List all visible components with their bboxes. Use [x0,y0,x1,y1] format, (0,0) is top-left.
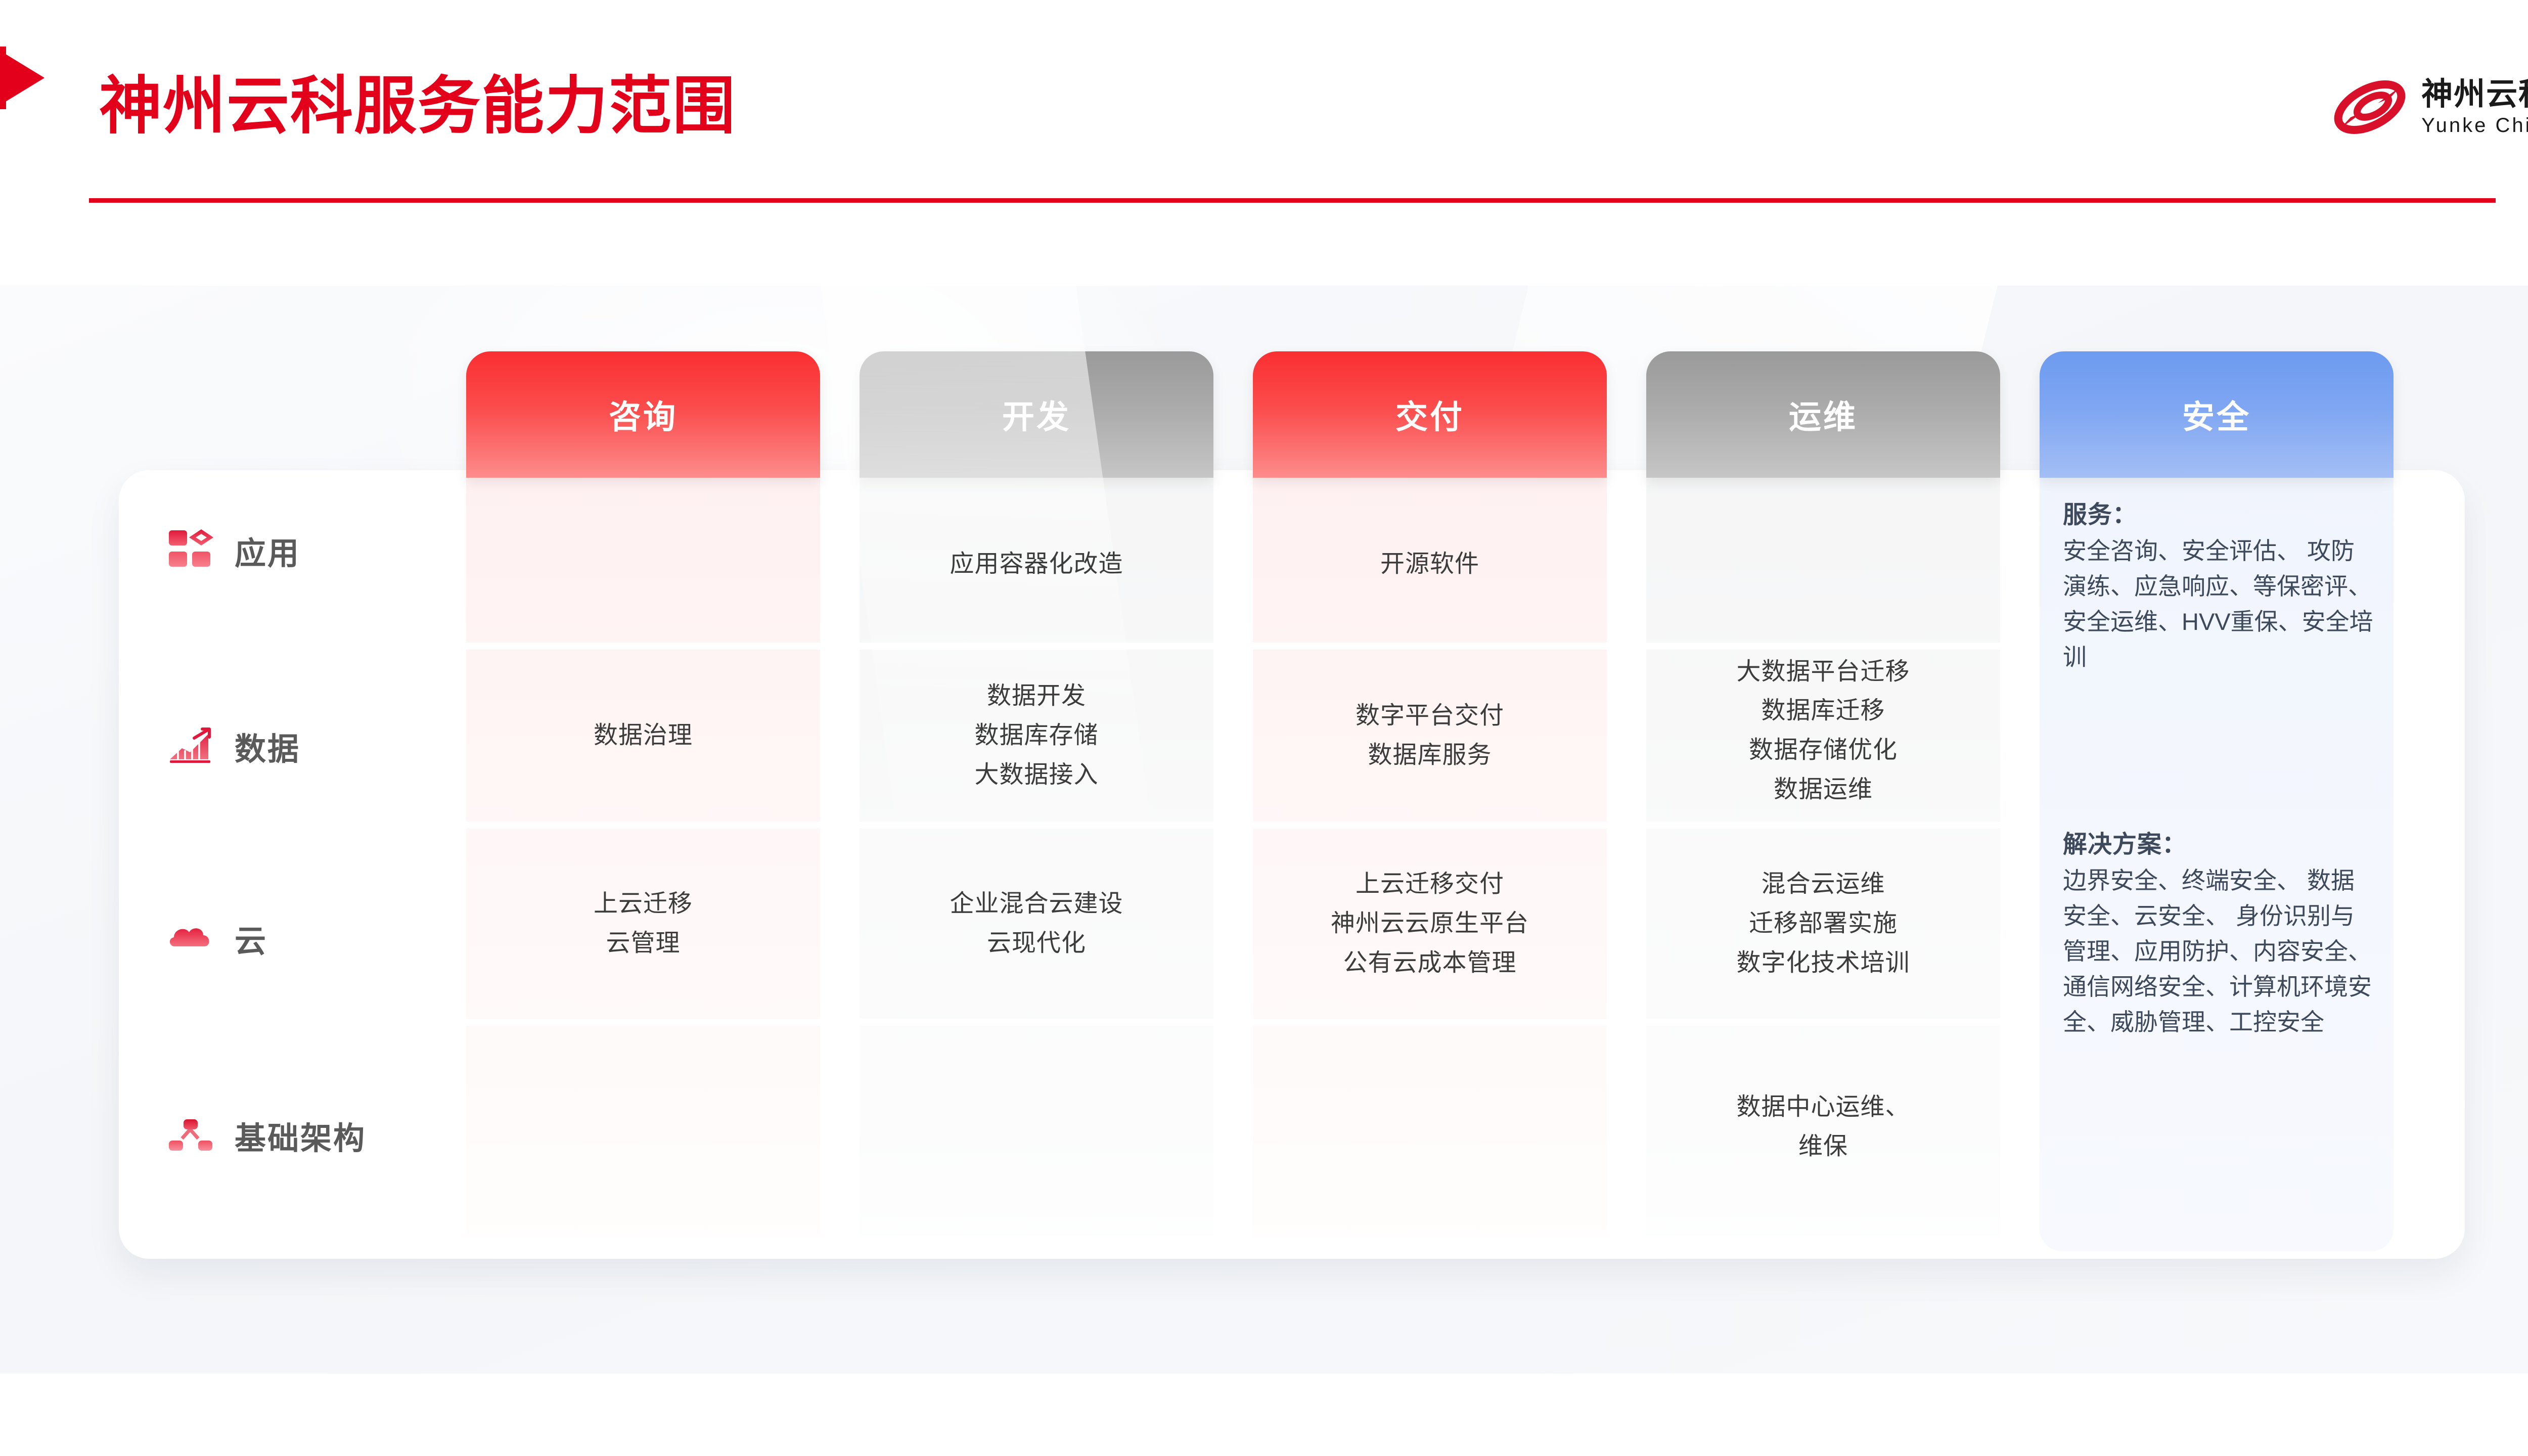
content-stage: 咨询 开发 交付 运维 安全 [0,286,2528,1374]
row-label-application: 应用 [167,527,300,574]
cell-application-consulting [466,486,820,643]
cell-data-operations: 大数据平台迁移数据库迁移数据存储优化数据运维 [1646,640,2000,822]
at-swirl-icon [2329,75,2410,140]
cell-infrastructure-consulting [466,1026,820,1228]
cell-infrastructure-operations: 数据中心运维、维保 [1646,1026,2000,1228]
cell-cloud-operations: 混合云运维迁移部署实施数字化技术培训 [1646,829,2000,1019]
capability-matrix: 咨询 开发 交付 运维 安全 [0,286,2528,1374]
column-header-consulting[interactable]: 咨询 [466,351,820,478]
cell-line: 数据库存储 [974,716,1098,755]
cell-line: 数据运维 [1774,770,1873,809]
cell-line: 应用容器化改造 [950,544,1123,584]
row-label-text: 数据 [235,723,300,769]
cell-line: 开源软件 [1380,544,1479,584]
column-header-operations[interactable]: 运维 [1646,351,2000,478]
cell-line: 数据存储优化 [1749,731,1898,770]
cell-line: 上云迁移交付 [1356,864,1504,904]
brand-logo: 神州云科 Yunke China [2329,75,2528,140]
row-label-cloud: 云 [167,915,267,962]
cell-line: 数字化技术培训 [1736,943,1910,983]
column-header-development[interactable]: 开发 [860,351,1213,478]
cell-line: 混合云运维 [1761,864,1885,904]
cell-infrastructure-delivery [1253,1026,1607,1228]
cloud-icon [167,915,213,962]
logo-text-cn: 神州云科 [2421,79,2528,110]
cell-data-development: 数据开发数据库存储大数据接入 [860,650,1213,822]
security-solution-title: 解决方案： [2063,827,2376,863]
cell-application-development: 应用容器化改造 [860,486,1213,643]
security-solution-block: 解决方案： 边界安全、终端安全、 数据安全、云安全、 身份识别与管理、应用防护、… [2063,827,2376,1040]
cell-line: 数据治理 [594,716,693,755]
cell-cloud-consulting: 上云迁移云管理 [466,829,820,1019]
cell-data-delivery: 数字平台交付数据库服务 [1253,650,1607,822]
page-header: 神州云科服务能力范围 神州云科 Yunke China [0,0,2528,212]
cell-line: 数字平台交付 [1356,696,1504,736]
cell-line: 上云迁移 [594,884,693,924]
cell-application-operations [1646,486,2000,643]
cell-application-delivery: 开源软件 [1253,486,1607,643]
cell-line: 大数据平台迁移 [1736,652,1910,692]
header-arrow-icon [0,41,44,114]
security-service-body: 安全咨询、安全评估、 攻防演练、应急响应、等保密评、安全运维、HVV重保、安全培… [2063,533,2376,675]
row-gutter-3 [466,1019,2000,1026]
app-blocks-icon [167,527,213,574]
bar-chart-growth-icon [167,723,213,769]
page-title: 神州云科服务能力范围 [99,55,736,146]
cell-line: 数据库服务 [1368,736,1492,775]
cell-line: 数据库迁移 [1761,691,1885,731]
row-label-text: 基础架构 [235,1113,366,1158]
row-label-text: 云 [235,916,267,961]
column-header-delivery[interactable]: 交付 [1253,351,1607,478]
cell-line: 大数据接入 [974,755,1098,795]
row-label-text: 应用 [235,528,300,573]
column-header-security[interactable]: 安全 [2040,351,2394,478]
cell-line: 云现代化 [987,924,1086,963]
cell-line: 维保 [1798,1127,1848,1166]
row-gutter-2 [466,822,2000,829]
cell-data-consulting: 数据治理 [466,650,820,822]
security-solution-body: 边界安全、终端安全、 数据安全、云安全、 身份识别与管理、应用防护、内容安全、通… [2063,863,2376,1040]
header-divider [89,198,2496,203]
cell-cloud-development: 企业混合云建设云现代化 [860,829,1213,1019]
network-hierarchy-icon [167,1112,213,1159]
cell-line: 企业混合云建设 [950,884,1123,924]
cell-cloud-delivery: 上云迁移交付神州云云原生平台公有云成本管理 [1253,829,1607,1019]
row-label-data: 数据 [167,723,300,769]
cell-line: 神州云云原生平台 [1331,904,1529,943]
cell-line: 迁移部署实施 [1749,904,1898,943]
cell-line: 公有云成本管理 [1343,943,1516,983]
cell-line: 数据开发 [987,676,1086,716]
cell-line: 数据中心运维、 [1736,1087,1910,1127]
logo-text-en: Yunke China [2421,115,2528,135]
cell-line: 云管理 [606,924,680,963]
security-service-title: 服务： [2063,497,2376,533]
security-service-block: 服务： 安全咨询、安全评估、 攻防演练、应急响应、等保密评、安全运维、HVV重保… [2063,497,2376,675]
cell-infrastructure-development [860,1026,1213,1228]
row-label-infrastructure: 基础架构 [167,1112,366,1159]
